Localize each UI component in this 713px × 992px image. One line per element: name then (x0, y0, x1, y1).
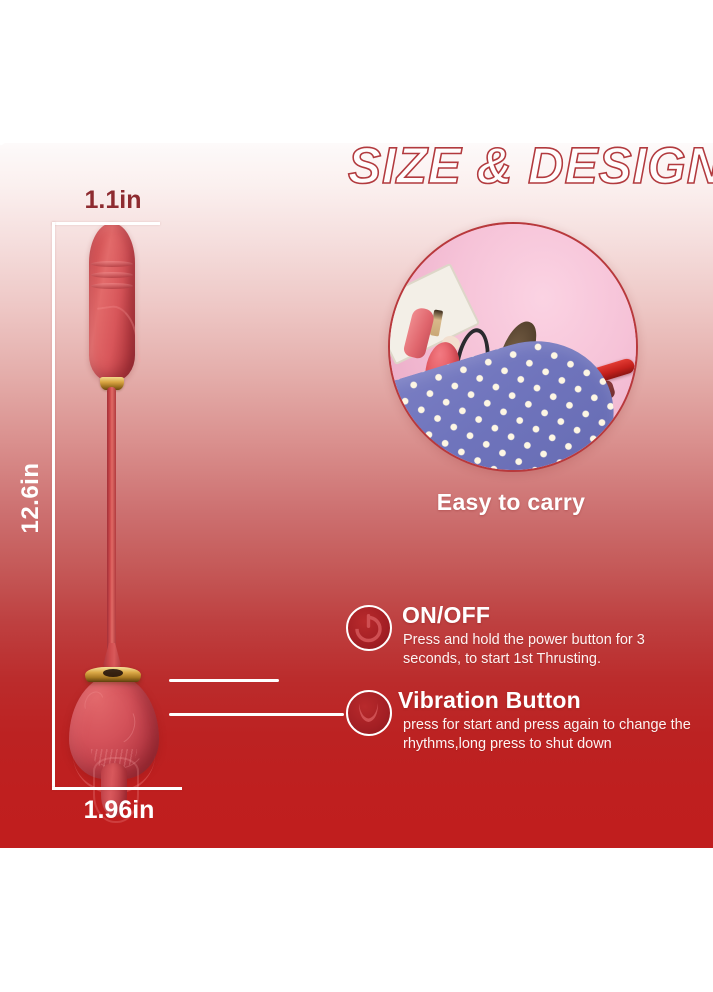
circular-photo-inset (388, 222, 638, 472)
dimension-line-width-bottom (52, 787, 182, 790)
feature-title-vibration: Vibration Button (398, 687, 581, 714)
inset-caption: Easy to carry (388, 489, 634, 516)
product-illustration (55, 223, 195, 843)
dimension-line-height (52, 222, 55, 790)
gold-accent-band-lower (85, 667, 141, 682)
head-ridge (91, 272, 133, 278)
feature-description-vibration: press for start and press again to chang… (403, 716, 703, 754)
callout-connectors (0, 143, 82, 146)
connector-line-onoff-diagonal (0, 143, 69, 146)
dimension-label-width-bottom: 1.96in (44, 796, 194, 825)
connector-line-onoff-horizontal (169, 679, 279, 682)
dimension-label-height: 12.6in (17, 450, 45, 546)
page-title: SIZE & DESIGN (348, 139, 683, 195)
head-ridge (91, 261, 133, 267)
vibration-icon[interactable] (346, 690, 392, 736)
photo-background (390, 224, 636, 470)
product-infographic: Easy to carry (0, 0, 713, 992)
feature-description-onoff: Press and hold the power button for 3 se… (403, 631, 703, 669)
connector-line-vibration (169, 713, 344, 716)
dimension-line-width-top (52, 222, 160, 225)
head-ridge (91, 283, 133, 289)
dimension-label-width-top: 1.1in (58, 186, 168, 215)
connecting-stem (107, 387, 116, 659)
feature-title-onoff: ON/OFF (402, 602, 490, 629)
gradient-background-panel: Easy to carry (0, 143, 713, 848)
power-icon[interactable] (346, 605, 392, 651)
